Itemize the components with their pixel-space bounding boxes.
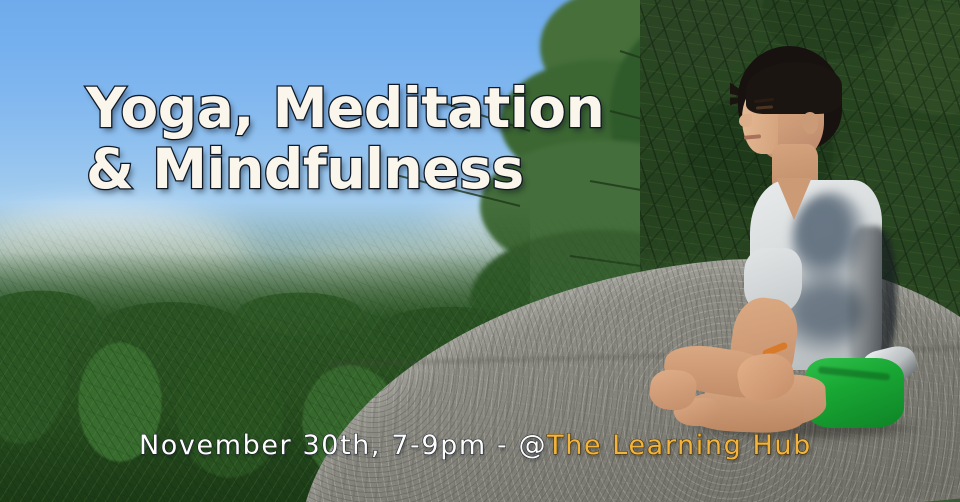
headline-line-2: & Mindfulness [86, 137, 524, 201]
event-banner: Yoga, Meditation& Mindfulness November 3… [0, 0, 960, 502]
headline-line-1: Yoga, Meditation [86, 76, 604, 140]
ear [802, 112, 818, 134]
shirt-shadow [848, 226, 896, 366]
event-venue: The Learning Hub [547, 430, 812, 461]
event-details: November 30th, 7-9pm - @The Learning Hub [139, 432, 812, 459]
meditating-person [620, 40, 930, 440]
page-title: Yoga, Meditation& Mindfulness [86, 78, 604, 200]
event-datetime: November 30th, 7-9pm - @ [139, 430, 547, 461]
nose [739, 114, 752, 127]
